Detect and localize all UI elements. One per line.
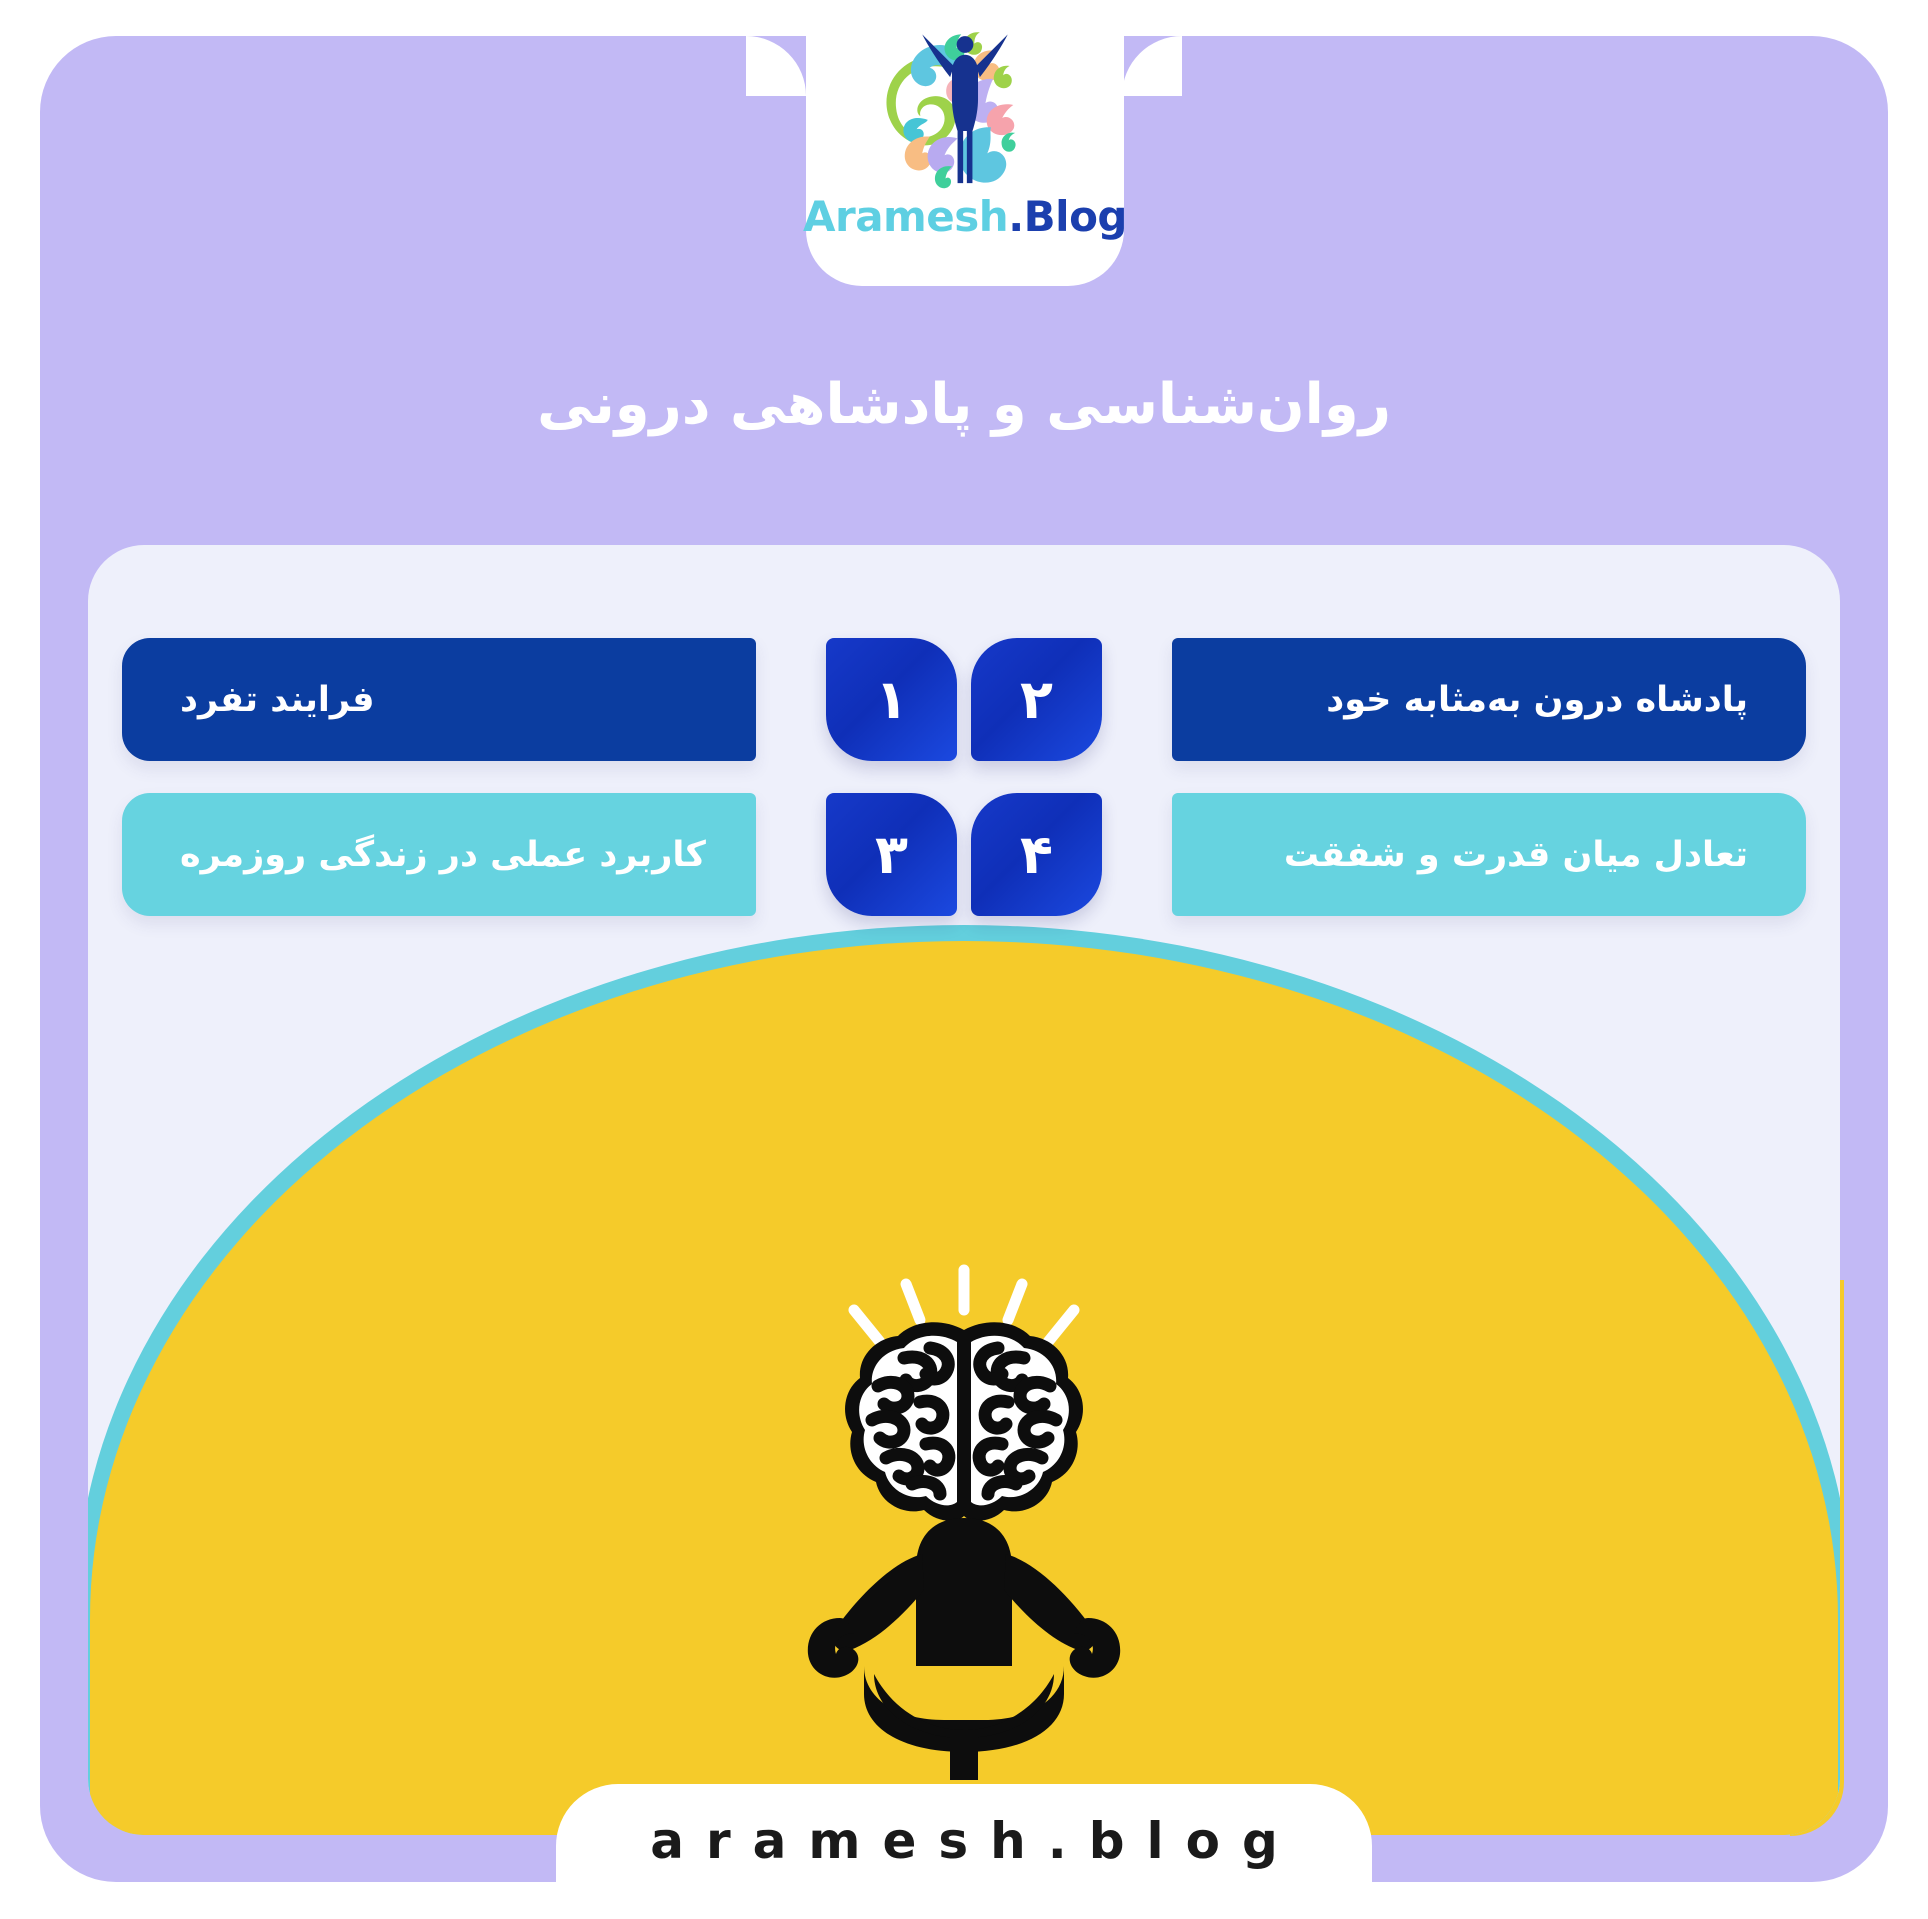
step-badges-row-1: ۲ ۱ [826,638,1102,761]
step-number-1: ۱ [875,668,908,731]
step-number-3: ۳ [875,823,908,886]
step-number-2: ۲ [1020,668,1053,731]
logo-notch-left [746,36,806,96]
infographic-canvas: Aramesh.Blog روان‌شناسی و پادشاهی درونی … [0,0,1928,1919]
step-badge-2[interactable]: ۲ [971,638,1102,761]
step-row-2: تعادل میان قدرت و شفقت ۴ ۳ کاربرد عملی د… [88,793,1840,916]
footer-url[interactable]: aramesh.blog [628,1812,1300,1870]
logo-notch-right [1122,36,1182,96]
step-label-4: کاربرد عملی در زندگی روزمره [180,835,706,875]
brand-wordmark: Aramesh.Blog [803,192,1127,241]
step-row-1: پادشاه درون به‌مثابه خود ۲ ۱ فرایند تفرد [88,638,1840,761]
step-bar-2[interactable]: فرایند تفرد [122,638,756,761]
step-label-3: تعادل میان قدرت و شفقت [1284,835,1748,875]
brand-wordmark-dot: . [1008,192,1023,241]
step-badge-4[interactable]: ۴ [971,793,1102,916]
brand-wordmark-blog: Blog [1024,192,1127,241]
steps-list: پادشاه درون به‌مثابه خود ۲ ۱ فرایند تفرد… [88,638,1840,948]
tree-person-logo-icon [872,12,1058,198]
brand-logo-pill: Aramesh.Blog [806,0,1124,286]
step-label-2: فرایند تفرد [180,680,375,720]
step-badges-row-2: ۴ ۳ [826,793,1102,916]
meditating-brain-figure-icon [754,1262,1174,1782]
brand-wordmark-aramesh: Aramesh [803,192,1008,241]
step-label-1: پادشاه درون به‌مثابه خود [1326,680,1748,720]
step-number-4: ۴ [1020,823,1053,886]
step-badge-1[interactable]: ۱ [826,638,957,761]
page-title: روان‌شناسی و پادشاهی درونی [0,372,1928,437]
step-bar-1[interactable]: پادشاه درون به‌مثابه خود [1172,638,1806,761]
step-bar-4[interactable]: کاربرد عملی در زندگی روزمره [122,793,756,916]
footer-url-pill: aramesh.blog [556,1784,1372,1919]
step-badge-3[interactable]: ۳ [826,793,957,916]
step-bar-3[interactable]: تعادل میان قدرت و شفقت [1172,793,1806,916]
